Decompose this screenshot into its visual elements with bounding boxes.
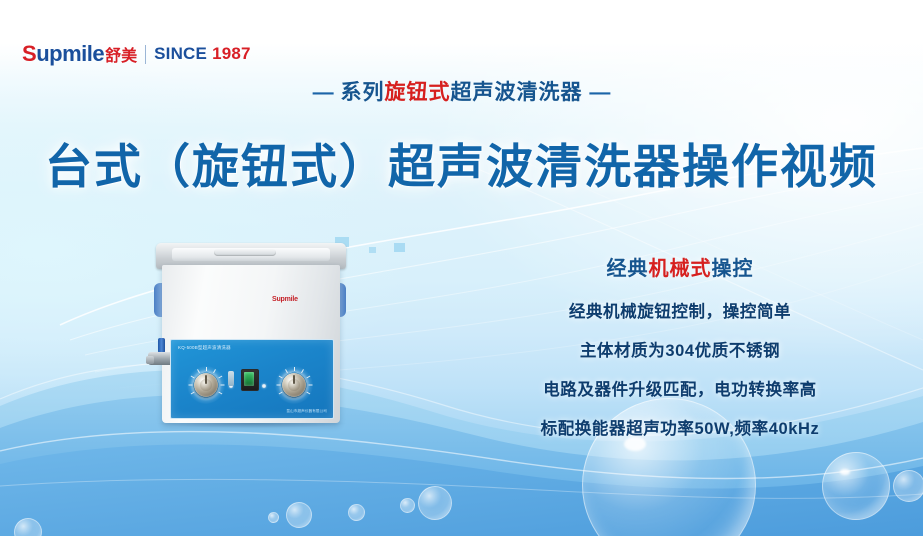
timer-knob[interactable] <box>194 373 218 397</box>
valve-handle <box>158 338 165 353</box>
bubble-small-mid <box>348 504 365 521</box>
product-lid-handle <box>214 249 276 256</box>
feature-heading-part-2: 机械式 <box>649 258 712 280</box>
decor-square-3 <box>394 243 405 252</box>
valve-spout <box>146 356 154 364</box>
decor-square-2 <box>369 247 376 253</box>
feature-heading-part-3: 操控 <box>712 258 754 280</box>
subtitle-part-1: 系列 <box>341 81 385 104</box>
heater-knob-pointer <box>293 375 295 384</box>
panel-model-label: KQ-500B型超声波清洗器 <box>178 345 231 351</box>
indicator-led-right <box>262 384 266 388</box>
feature-list: 经典机械旋钮控制，操控简单 主体材质为304优质不锈钢 电路及器件升级匹配，电功… <box>455 298 905 454</box>
heater-knob-assembly <box>275 366 313 404</box>
bubble-medium-right <box>822 452 890 520</box>
subtitle-dash-left: — <box>313 81 334 104</box>
bubble-small-center <box>418 486 452 520</box>
feature-item-3: 电路及器件升级匹配，电功转换率高 <box>455 376 905 400</box>
logo-letter-s: S <box>22 41 36 66</box>
logo-divider <box>145 45 146 64</box>
timer-knob-assembly <box>187 366 225 404</box>
subtitle-part-3: 超声波清洗器 <box>451 81 583 104</box>
panel-manufacturer-label: 昆山市超声仪器有限公司 <box>286 409 327 414</box>
feature-heading-part-1: 经典 <box>607 258 649 280</box>
logo-since-label: SINCE <box>154 44 207 64</box>
bubble-small-right-edge <box>893 470 923 502</box>
page-title: 台式（旋钮式）超声波清洗器操作视频 <box>0 128 923 197</box>
brand-logo: Supmile 舒美 SINCE 1987 <box>22 41 251 67</box>
subtitle-part-2: 旋钮式 <box>385 81 451 104</box>
product-image-ultrasonic-cleaner: Supmile KQ-500B型超声波清洗器 <box>148 243 353 428</box>
power-switch-rocker <box>244 372 254 386</box>
logo-wordmark: Supmile <box>22 43 104 65</box>
timer-knob-pointer <box>205 375 207 384</box>
fuse-holder[interactable] <box>228 371 234 386</box>
bubble-tiny-center <box>400 498 415 513</box>
product-control-panel: KQ-500B型超声波清洗器 <box>170 339 334 419</box>
heater-knob[interactable] <box>282 373 306 397</box>
power-switch[interactable] <box>241 369 259 391</box>
product-body-brand-text: Supmile <box>272 296 298 303</box>
logo-since-year: 1987 <box>212 44 251 64</box>
logo-text-upmile: upmile <box>36 41 104 66</box>
logo-chinese-name: 舒美 <box>105 42 137 66</box>
feature-item-2: 主体材质为304优质不锈钢 <box>455 337 905 361</box>
feature-item-4: 标配换能器超声功率50W,频率40kHz <box>455 415 905 439</box>
subtitle-dash-right: — <box>589 81 610 104</box>
bubble-tiny-left <box>268 512 279 523</box>
feature-item-1: 经典机械旋钮控制，操控简单 <box>455 298 905 322</box>
series-subtitle: — 系列旋钮式超声波清洗器 — <box>0 76 923 106</box>
feature-heading: 经典机械式操控 <box>460 252 900 281</box>
slide-canvas: Supmile 舒美 SINCE 1987 — 系列旋钮式超声波清洗器 — 台式… <box>0 0 923 536</box>
bubble-small-left <box>286 502 312 528</box>
